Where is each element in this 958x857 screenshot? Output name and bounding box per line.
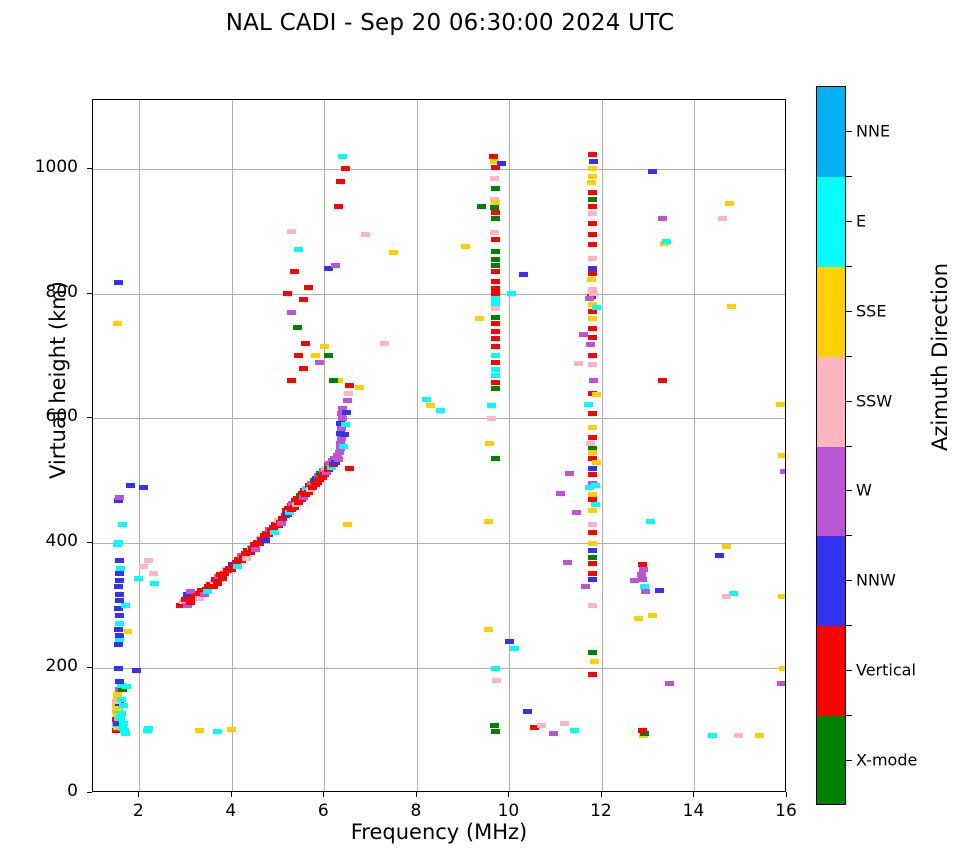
echo-marker	[341, 166, 350, 171]
echo-marker	[505, 639, 514, 644]
gridline-vertical	[602, 100, 603, 791]
colorbar-title: Azimuth Direction	[928, 207, 952, 507]
echo-marker	[344, 391, 353, 396]
echo-marker	[343, 522, 352, 527]
echo-marker	[588, 571, 597, 576]
y-tick	[87, 293, 92, 294]
echo-marker	[116, 566, 125, 571]
echo-marker	[491, 386, 500, 391]
echo-marker	[341, 422, 350, 427]
echo-marker	[186, 600, 195, 605]
echo-marker	[648, 169, 657, 174]
echo-marker	[589, 159, 598, 164]
echo-marker	[592, 305, 601, 310]
colorbar-label-w: W	[856, 481, 872, 500]
echo-marker	[634, 616, 643, 621]
echo-marker	[115, 558, 124, 563]
colorbar-label-x-mode: X-mode	[856, 751, 917, 770]
echo-marker	[537, 723, 546, 728]
echo-marker	[491, 315, 500, 320]
echo-marker	[342, 410, 351, 415]
echo-marker	[591, 502, 600, 507]
echo-marker	[334, 457, 343, 462]
x-tick-label: 2	[108, 801, 168, 821]
echo-marker	[590, 659, 599, 664]
colorbar-boundary-tick	[846, 625, 852, 626]
echo-marker	[149, 571, 158, 576]
colorbar-segment-nne[interactable]	[817, 87, 845, 177]
colorbar-segment-nnw[interactable]	[817, 536, 845, 626]
echo-marker	[588, 672, 597, 677]
echo-marker	[588, 316, 597, 321]
echo-marker	[304, 285, 313, 290]
echo-marker	[334, 204, 343, 209]
echo-marker	[570, 728, 579, 733]
echo-marker	[586, 342, 595, 347]
echo-marker	[320, 344, 329, 349]
echo-marker	[287, 310, 296, 315]
echo-marker	[588, 508, 597, 513]
colorbar-segment-sse[interactable]	[817, 267, 845, 357]
colorbar-label-e: E	[856, 211, 866, 230]
echo-marker	[233, 564, 242, 569]
echo-marker	[588, 204, 597, 209]
echo-marker	[588, 211, 597, 216]
echo-marker	[638, 577, 647, 582]
echo-marker	[380, 341, 389, 346]
echo-marker	[115, 571, 124, 576]
echo-marker	[588, 362, 597, 367]
echo-marker	[588, 561, 597, 566]
echo-marker	[588, 466, 597, 471]
x-tick	[693, 792, 694, 797]
echo-marker	[122, 684, 131, 689]
echo-marker	[461, 244, 470, 249]
x-tick-label: 14	[663, 801, 723, 821]
echo-marker	[641, 589, 650, 594]
echo-marker	[311, 353, 320, 358]
y-tick-label: 200	[8, 656, 78, 676]
echo-marker	[491, 279, 500, 284]
x-axis-title: Frequency (MHz)	[92, 820, 786, 844]
colorbar-label-nnw: NNW	[856, 571, 896, 590]
colorbar-boundary-tick	[846, 356, 852, 357]
echo-marker	[777, 681, 786, 686]
echo-marker	[588, 450, 597, 455]
echo-marker	[588, 190, 597, 195]
echo-marker	[588, 555, 597, 560]
echo-marker	[491, 367, 500, 372]
y-tick	[87, 667, 92, 668]
echo-marker	[523, 709, 532, 714]
x-tick	[786, 792, 787, 797]
echo-marker	[343, 398, 352, 403]
echo-marker	[301, 341, 310, 346]
echo-marker	[549, 731, 558, 736]
colorbar-tick	[846, 580, 852, 581]
echo-marker	[588, 166, 597, 171]
gridline-vertical	[324, 100, 325, 791]
echo-marker	[115, 578, 124, 583]
echo-marker	[119, 703, 128, 708]
echo-marker	[497, 161, 506, 166]
colorbar-tick	[846, 760, 852, 761]
gridline-vertical	[509, 100, 510, 791]
echo-marker	[779, 666, 786, 671]
colorbar-tick	[846, 221, 852, 222]
echo-marker	[778, 453, 786, 458]
echo-marker	[277, 521, 286, 526]
echo-marker	[484, 519, 493, 524]
echo-marker	[588, 435, 597, 440]
echo-marker	[329, 378, 338, 383]
echo-marker	[115, 613, 124, 618]
echo-marker	[588, 197, 597, 202]
echo-marker	[195, 728, 204, 733]
echo-marker	[572, 510, 581, 515]
echo-marker	[587, 277, 596, 282]
echo-marker	[475, 316, 484, 321]
echo-marker	[708, 733, 717, 738]
echo-marker	[491, 329, 500, 334]
colorbar[interactable]	[816, 86, 846, 805]
echo-marker	[592, 460, 601, 465]
echo-marker	[490, 230, 499, 235]
echo-marker	[574, 361, 583, 366]
echo-marker	[588, 242, 597, 247]
gridline-horizontal	[93, 294, 785, 295]
colorbar-segment-x-mode[interactable]	[817, 716, 845, 805]
echo-marker	[361, 232, 370, 237]
gridline-horizontal	[93, 169, 785, 170]
echo-marker	[283, 291, 292, 296]
y-tick-label: 800	[8, 282, 78, 302]
echo-marker	[588, 271, 597, 276]
echo-marker	[213, 729, 222, 734]
echo-marker	[487, 416, 496, 421]
echo-marker	[491, 360, 500, 365]
echo-marker	[270, 530, 279, 535]
echo-marker	[491, 237, 500, 242]
colorbar-tick	[846, 490, 852, 491]
echo-marker	[294, 353, 303, 358]
colorbar-tick	[846, 401, 852, 402]
echo-marker	[715, 553, 724, 558]
echo-marker	[114, 280, 123, 285]
echo-marker	[117, 711, 126, 716]
colorbar-boundary-tick	[846, 535, 852, 536]
echo-marker	[490, 176, 499, 181]
echo-marker	[261, 538, 270, 543]
echo-marker	[422, 397, 431, 402]
colorbar-boundary-tick	[846, 266, 852, 267]
echo-marker	[638, 728, 647, 733]
echo-marker	[491, 263, 500, 268]
echo-marker	[491, 210, 500, 215]
echo-marker	[345, 383, 354, 388]
echo-marker	[213, 581, 222, 586]
echo-marker	[139, 564, 148, 569]
colorbar-tick	[846, 131, 852, 132]
echo-marker	[389, 250, 398, 255]
echo-marker	[589, 378, 598, 383]
y-tick	[87, 542, 92, 543]
y-tick-label: 400	[8, 531, 78, 551]
x-tick-label: 4	[201, 801, 261, 821]
colorbar-label-vertical: Vertical	[856, 661, 916, 680]
colorbar-segment-e[interactable]	[817, 177, 845, 267]
colorbar-boundary-tick	[846, 446, 852, 447]
gridline-vertical	[694, 100, 695, 791]
x-tick	[601, 792, 602, 797]
echo-marker	[485, 441, 494, 446]
echo-marker	[727, 304, 736, 309]
echo-marker	[560, 721, 569, 726]
echo-marker	[507, 291, 516, 296]
echo-marker	[587, 180, 596, 185]
echo-marker	[115, 592, 124, 597]
echo-marker	[588, 411, 597, 416]
echo-marker	[294, 247, 303, 252]
echo-marker	[119, 721, 128, 726]
echo-marker	[324, 353, 333, 358]
y-tick-label: 1000	[8, 157, 78, 177]
echo-marker	[113, 321, 122, 326]
echo-marker	[492, 678, 501, 683]
echo-marker	[491, 216, 500, 221]
echo-marker	[251, 547, 260, 552]
echo-marker	[331, 263, 340, 268]
echo-marker	[665, 681, 674, 686]
echo-marker	[778, 594, 786, 599]
echo-marker	[487, 403, 496, 408]
y-tick	[87, 792, 92, 793]
echo-marker	[335, 450, 344, 455]
echo-marker	[588, 530, 597, 535]
x-tick-label: 12	[571, 801, 631, 821]
x-tick-label: 10	[478, 801, 538, 821]
colorbar-segment-vertical[interactable]	[817, 626, 845, 716]
gridline-vertical	[139, 100, 140, 791]
echo-marker	[117, 697, 126, 702]
echo-marker	[588, 174, 597, 179]
echo-marker	[588, 425, 597, 430]
echo-marker	[588, 522, 597, 527]
echo-marker	[646, 519, 655, 524]
echo-marker	[658, 216, 667, 221]
x-tick-label: 8	[386, 801, 446, 821]
echo-marker	[218, 576, 227, 581]
echo-marker	[339, 444, 348, 449]
gridline-horizontal	[93, 418, 785, 419]
y-tick-label: 600	[8, 406, 78, 426]
echo-marker	[336, 179, 345, 184]
colorbar-tick	[846, 670, 852, 671]
echo-marker	[588, 335, 597, 340]
x-tick-label: 16	[756, 801, 816, 821]
echo-marker	[556, 491, 565, 496]
echo-marker	[355, 385, 364, 390]
colorbar-segment-w[interactable]	[817, 447, 845, 537]
plot-area	[92, 99, 786, 792]
gridline-vertical	[417, 100, 418, 791]
echo-marker	[115, 495, 124, 500]
echo-marker	[491, 344, 500, 349]
colorbar-tick	[846, 311, 852, 312]
echo-marker	[484, 627, 493, 632]
echo-marker	[338, 416, 347, 421]
echo-marker	[126, 483, 135, 488]
x-tick	[323, 792, 324, 797]
colorbar-boundary-tick	[846, 715, 852, 716]
echo-marker	[588, 353, 597, 358]
colorbar-label-ssw: SSW	[856, 391, 892, 410]
echo-marker	[588, 326, 597, 331]
echo-marker	[588, 548, 597, 553]
echo-marker	[776, 402, 785, 407]
echo-marker	[491, 306, 500, 311]
echo-marker	[491, 249, 500, 254]
echo-marker	[490, 723, 499, 728]
echo-marker	[491, 729, 500, 734]
y-axis-title: Virtual height (km)	[46, 230, 70, 530]
colorbar-segment-ssw[interactable]	[817, 357, 845, 447]
echo-marker	[491, 336, 500, 341]
x-tick-label: 6	[293, 801, 353, 821]
echo-marker	[755, 733, 764, 738]
echo-marker	[491, 269, 500, 274]
echo-marker	[588, 256, 597, 261]
echo-marker	[242, 556, 251, 561]
echo-marker	[345, 466, 354, 471]
echo-marker	[491, 257, 500, 262]
echo-marker	[338, 154, 347, 159]
echo-marker	[491, 666, 500, 671]
echo-marker	[134, 576, 143, 581]
echo-marker	[638, 562, 647, 567]
echo-marker	[293, 325, 302, 330]
echo-marker	[491, 321, 500, 326]
echo-marker	[510, 646, 519, 651]
echo-marker	[491, 456, 500, 461]
echo-marker	[491, 353, 500, 358]
echo-marker	[579, 332, 588, 337]
echo-marker	[315, 360, 324, 365]
echo-marker	[299, 366, 308, 371]
echo-marker	[588, 577, 597, 582]
echo-marker	[563, 560, 572, 565]
echo-marker	[114, 584, 123, 589]
echo-marker	[491, 373, 500, 378]
echo-marker	[780, 469, 786, 474]
echo-marker	[491, 186, 500, 191]
echo-marker	[144, 558, 153, 563]
echo-marker	[436, 408, 445, 413]
colorbar-boundary-tick	[846, 176, 852, 177]
echo-marker	[718, 216, 727, 221]
echo-marker	[150, 581, 159, 586]
echo-marker	[725, 201, 734, 206]
echo-marker	[734, 733, 743, 738]
echo-marker	[114, 642, 123, 647]
gridline-horizontal	[93, 668, 785, 669]
echo-marker	[662, 239, 671, 244]
echo-marker	[491, 380, 500, 385]
colorbar-label-nne: NNE	[856, 121, 890, 140]
echo-marker	[227, 727, 236, 732]
echo-marker	[477, 204, 486, 209]
echo-marker	[658, 378, 667, 383]
echo-marker	[132, 668, 141, 673]
echo-marker	[655, 588, 664, 593]
echo-marker	[114, 666, 123, 671]
echo-marker	[115, 621, 124, 626]
echo-marker	[581, 584, 590, 589]
x-tick	[231, 792, 232, 797]
page-title: NAL CADI - Sep 20 06:30:00 2024 UTC	[0, 10, 900, 36]
echo-marker	[121, 603, 130, 608]
ionogram-figure: NAL CADI - Sep 20 06:30:00 2024 UTC Freq…	[0, 0, 958, 857]
y-tick-label: 0	[8, 781, 78, 801]
echo-marker	[144, 726, 153, 731]
echo-marker	[588, 650, 597, 655]
echo-marker	[287, 229, 296, 234]
echo-marker	[565, 471, 574, 476]
echo-marker	[299, 297, 308, 302]
echo-marker	[426, 403, 435, 408]
echo-marker	[588, 541, 597, 546]
echo-marker	[118, 522, 127, 527]
echo-marker	[123, 629, 132, 634]
echo-marker	[203, 589, 212, 594]
echo-marker	[290, 269, 299, 274]
colorbar-label-sse: SSE	[856, 301, 886, 320]
gridline-horizontal	[93, 543, 785, 544]
echo-marker	[588, 221, 597, 226]
echo-marker	[139, 485, 148, 490]
x-tick	[138, 792, 139, 797]
echo-marker	[584, 402, 593, 407]
echo-marker	[592, 392, 601, 397]
echo-marker	[114, 540, 123, 545]
echo-marker	[588, 603, 597, 608]
echo-marker	[588, 152, 597, 157]
echo-marker	[519, 272, 528, 277]
echo-marker	[722, 594, 731, 599]
echo-marker	[648, 613, 657, 618]
echo-marker	[337, 436, 346, 441]
y-tick	[87, 168, 92, 169]
echo-marker	[287, 378, 296, 383]
echo-marker	[585, 296, 594, 301]
echo-marker	[588, 232, 597, 237]
echo-marker	[639, 567, 648, 572]
x-tick	[508, 792, 509, 797]
echo-marker	[588, 472, 597, 477]
gridline-vertical	[232, 100, 233, 791]
x-tick	[416, 792, 417, 797]
echo-marker	[121, 731, 130, 736]
y-tick	[87, 417, 92, 418]
echo-marker	[340, 432, 349, 437]
echo-marker	[585, 485, 594, 490]
echo-marker	[722, 544, 731, 549]
